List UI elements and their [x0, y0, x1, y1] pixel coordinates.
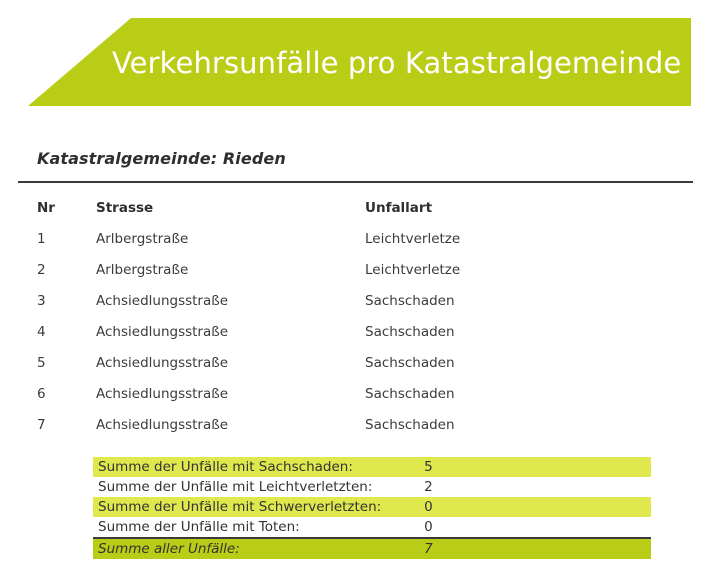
summary-value: 5 [424, 457, 651, 477]
table-row: 2 Arlbergstraße Leichtverletze [0, 255, 714, 286]
cell-strasse: Arlbergstraße [96, 255, 365, 286]
table-row: 5 Achsiedlungsstraße Sachschaden [0, 348, 714, 379]
summary-value: 0 [424, 517, 651, 538]
cell-nr: 7 [0, 410, 96, 441]
cell-nr: 5 [0, 348, 96, 379]
summary-table-body: Summe der Unfälle mit Sachschaden: 5 Sum… [93, 457, 651, 559]
accidents-table-body: 1 Arlbergstraße Leichtverletze 2 Arlberg… [0, 224, 714, 441]
cell-nr: 3 [0, 286, 96, 317]
cell-unfallart: Sachschaden [365, 286, 714, 317]
cell-nr: 2 [0, 255, 96, 286]
cell-strasse: Achsiedlungsstraße [96, 286, 365, 317]
cell-unfallart: Leichtverletze [365, 255, 714, 286]
cell-strasse: Achsiedlungsstraße [96, 379, 365, 410]
cell-unfallart: Sachschaden [365, 410, 714, 441]
page-header-banner: Verkehrsunfälle pro Katastralgemeinde [0, 18, 691, 106]
summary-row-schwerverletzten: Summe der Unfälle mit Schwerverletzten: … [93, 497, 651, 517]
column-header-strasse: Strasse [96, 193, 365, 224]
katastralgemeinde-subtitle: Katastralgemeinde: Rieden [37, 149, 286, 168]
accidents-table: Nr Strasse Unfallart 1 Arlbergstraße Lei… [0, 193, 714, 441]
column-header-nr: Nr [0, 193, 96, 224]
table-row: 6 Achsiedlungsstraße Sachschaden [0, 379, 714, 410]
cell-nr: 1 [0, 224, 96, 255]
summary-row-leichtverletzten: Summe der Unfälle mit Leichtverletzten: … [93, 477, 651, 497]
summary-value: 7 [424, 538, 651, 559]
cell-unfallart: Sachschaden [365, 379, 714, 410]
cell-strasse: Achsiedlungsstraße [96, 348, 365, 379]
table-row: 7 Achsiedlungsstraße Sachschaden [0, 410, 714, 441]
summary-label: Summe der Unfälle mit Sachschaden: [93, 457, 424, 477]
summary-label: Summe der Unfälle mit Schwerverletzten: [93, 497, 424, 517]
summary-row-total: Summe aller Unfälle: 7 [93, 538, 651, 559]
summary-label: Summe aller Unfälle: [93, 538, 424, 559]
table-row: 1 Arlbergstraße Leichtverletze [0, 224, 714, 255]
summary-row-sachschaden: Summe der Unfälle mit Sachschaden: 5 [93, 457, 651, 477]
summary-label: Summe der Unfälle mit Leichtverletzten: [93, 477, 424, 497]
cell-strasse: Achsiedlungsstraße [96, 317, 365, 348]
cell-strasse: Arlbergstraße [96, 224, 365, 255]
cell-unfallart: Sachschaden [365, 348, 714, 379]
column-header-unfallart: Unfallart [365, 193, 714, 224]
summary-table: Summe der Unfälle mit Sachschaden: 5 Sum… [93, 457, 651, 559]
cell-unfallart: Sachschaden [365, 317, 714, 348]
header-divider [18, 181, 693, 183]
cell-unfallart: Leichtverletze [365, 224, 714, 255]
summary-value: 0 [424, 497, 651, 517]
table-row: 4 Achsiedlungsstraße Sachschaden [0, 317, 714, 348]
table-header-row: Nr Strasse Unfallart [0, 193, 714, 224]
table-row: 3 Achsiedlungsstraße Sachschaden [0, 286, 714, 317]
summary-value: 2 [424, 477, 651, 497]
page-title: Verkehrsunfälle pro Katastralgemeinde [112, 18, 681, 106]
summary-label: Summe der Unfälle mit Toten: [93, 517, 424, 538]
summary-row-toten: Summe der Unfälle mit Toten: 0 [93, 517, 651, 538]
cell-nr: 4 [0, 317, 96, 348]
cell-strasse: Achsiedlungsstraße [96, 410, 365, 441]
cell-nr: 6 [0, 379, 96, 410]
accidents-table-head: Nr Strasse Unfallart [0, 193, 714, 224]
